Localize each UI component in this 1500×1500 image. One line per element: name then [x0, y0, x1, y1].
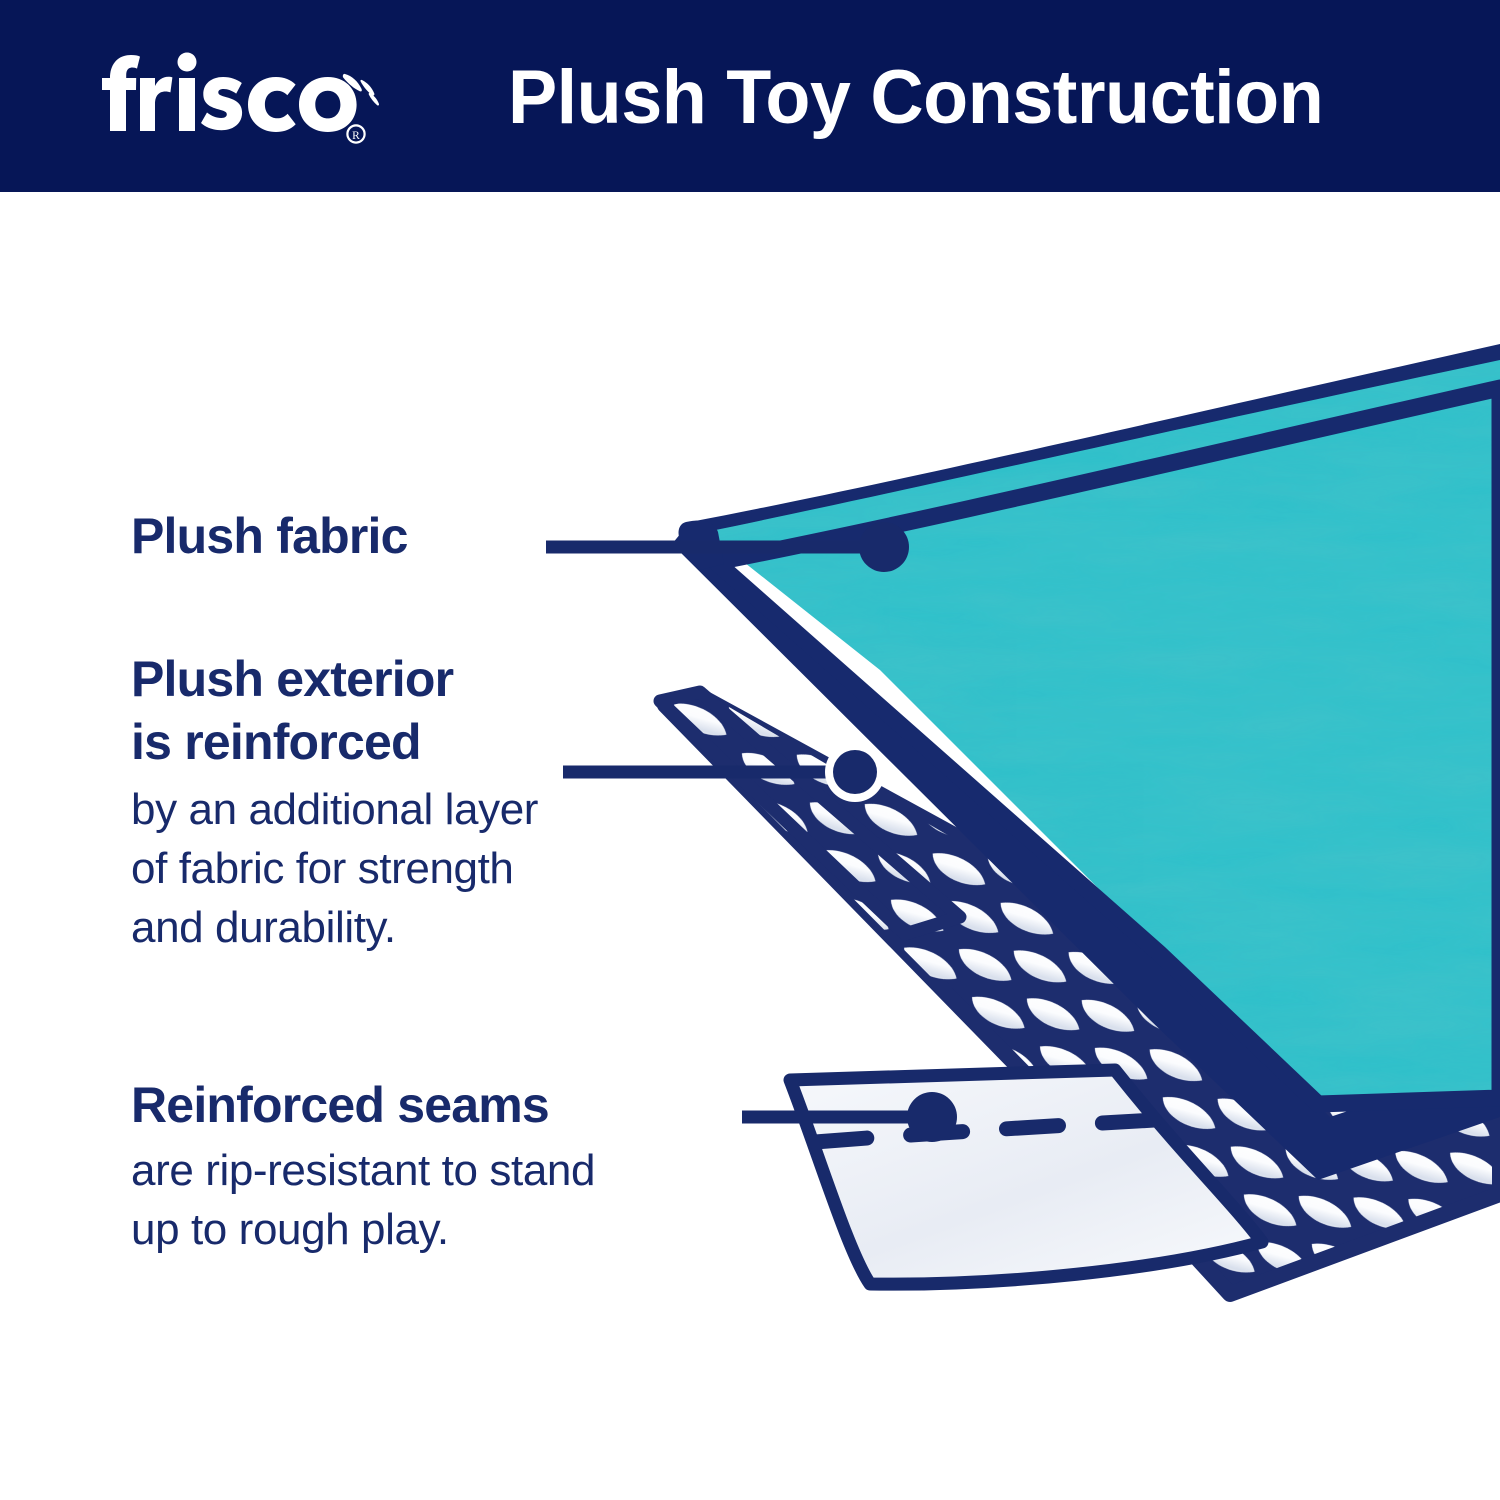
callout-dot-plush-fabric [859, 522, 909, 572]
callout-plush-exterior-reinforced: Plush exterior is reinforced by an addit… [131, 648, 538, 957]
registered-trademark-icon: R [347, 125, 364, 142]
callout-body: by an additional layer of fabric for str… [131, 780, 538, 957]
svg-text:R: R [352, 130, 360, 142]
header-bar: R Plush Toy Construction [0, 0, 1500, 192]
callout-body: are rip-resistant to stand up to rough p… [131, 1141, 595, 1259]
callout-dot-plush-exterior [833, 750, 877, 794]
callout-plush-fabric: Plush fabric [131, 505, 408, 568]
page-title: Plush Toy Construction [508, 46, 1381, 150]
callout-reinforced-seams: Reinforced seams are rip-resistant to st… [131, 1074, 595, 1259]
infographic-page: R Plush Toy Construction [0, 0, 1500, 1500]
callout-heading: Reinforced seams [131, 1074, 595, 1137]
callout-heading: Plush fabric [131, 505, 408, 568]
frisco-logo: R [84, 44, 384, 148]
callout-dot-reinforced-seams [907, 1092, 957, 1142]
callout-heading: Plush exterior is reinforced [131, 648, 538, 774]
